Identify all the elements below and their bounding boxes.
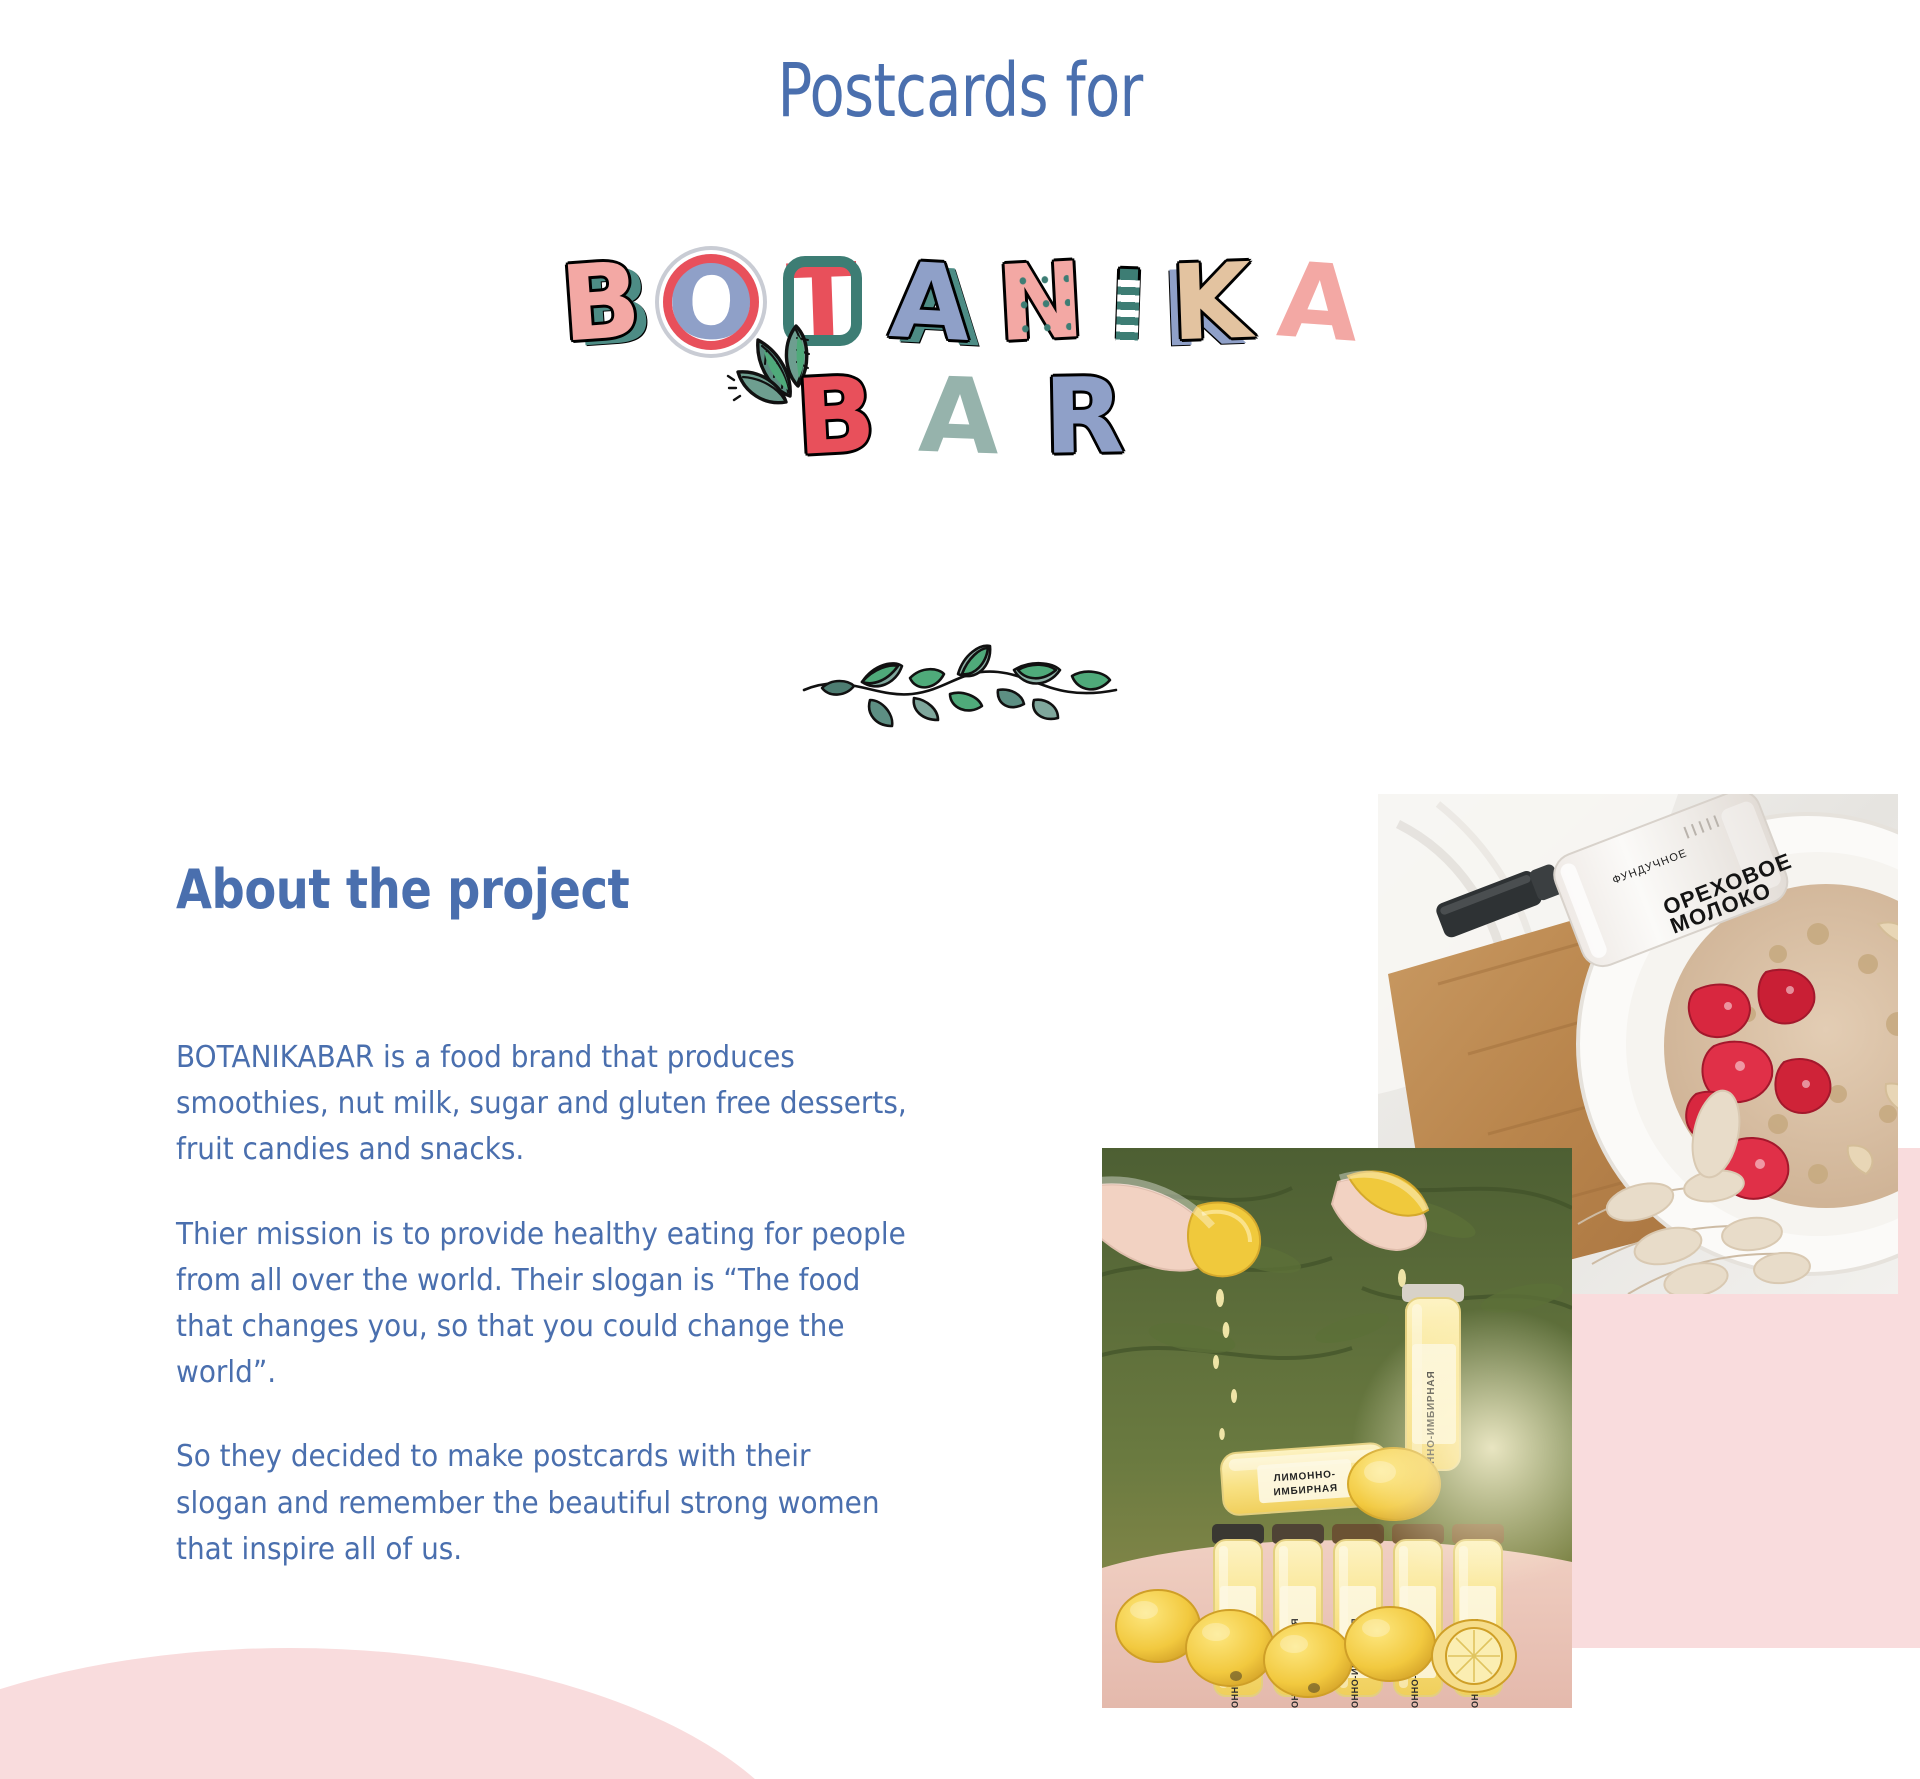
- leaf-branch-divider-icon: [798, 638, 1122, 738]
- logo-letter-o-wrap: O: [667, 250, 755, 354]
- about-paragraph-3: So they decided to make postcards with t…: [176, 1434, 911, 1573]
- about-paragraph-2: Thier mission is to provide healthy eati…: [176, 1212, 911, 1397]
- logo-letter-n: N: [994, 248, 1086, 356]
- logo-letter-a-first: A: [887, 248, 973, 356]
- pink-blob-bottom-left: [0, 1648, 820, 1779]
- logo-letter-t-wrap: T: [781, 250, 864, 354]
- about-heading: About the project: [176, 858, 629, 921]
- logo-line-bar: B A R: [0, 364, 1920, 468]
- about-paragraph-1: BOTANIKABAR is a food brand that produce…: [176, 1035, 911, 1174]
- logo-letter-b-bar: B: [793, 362, 878, 470]
- page-title: Postcards for: [211, 48, 1709, 134]
- lemon-ginger-lemonade-photo: ЛИМОННО-ИМБИРНАЯ ЛИМОННО- ИМБИРНАЯ: [1102, 1148, 1572, 1708]
- logo-letter-t: T: [785, 249, 860, 355]
- logo-letter-i-stripes: [1115, 280, 1139, 347]
- logo-letter-n-dots: [1011, 267, 1072, 340]
- logo-letter-k: K: [1170, 249, 1254, 356]
- logo-letter-i: I: [1108, 257, 1147, 354]
- logo-letter-b: B: [558, 247, 644, 356]
- logo-line-botanika: B O T A N I K A: [0, 250, 1920, 354]
- logo-letter-a-bar: A: [918, 363, 1002, 470]
- logo-letter-o: O: [665, 248, 757, 355]
- botanikabar-logo: B O T A N I K A: [0, 250, 1920, 468]
- logo-letter-r-bar: R: [1043, 363, 1125, 468]
- page-root: Postcards for B O T A N I K A: [0, 0, 1920, 1779]
- logo-letter-a-second: A: [1274, 247, 1362, 356]
- about-body: BOTANIKABAR is a food brand that produce…: [176, 1035, 966, 1573]
